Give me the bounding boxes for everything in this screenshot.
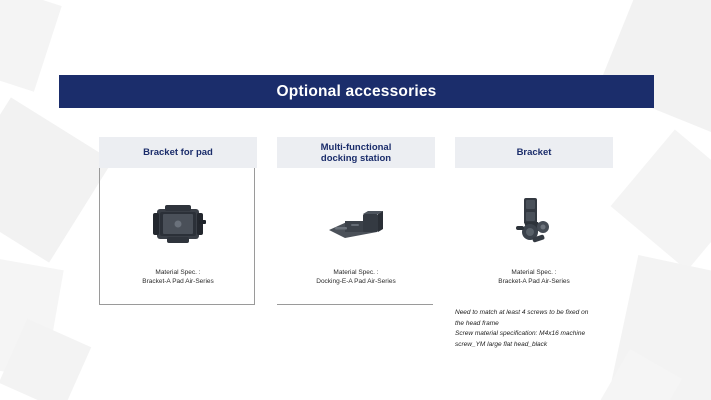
card-header: Bracket xyxy=(455,137,613,168)
note-line-4: screw_YM large flat head_black xyxy=(455,340,625,351)
card-divider-rule xyxy=(277,304,433,305)
accessory-card-docking-station: Multi-functional docking station xyxy=(277,137,435,305)
card-body: Material Spec. : Bracket-A Pad Air-Serie… xyxy=(99,168,257,305)
decorative-shape xyxy=(600,349,682,400)
card-caption: Material Spec. : Docking-E-A Pad Air-Ser… xyxy=(277,268,435,286)
card-body: Material Spec. : Docking-E-A Pad Air-Ser… xyxy=(277,168,435,305)
card-title: Multi-functional docking station xyxy=(317,142,396,164)
decorative-shape xyxy=(0,319,91,400)
card-caption: Material Spec. : Bracket-A Pad Air-Serie… xyxy=(99,268,257,286)
card-header: Multi-functional docking station xyxy=(277,137,435,168)
note-line-2: the head frame xyxy=(455,319,625,330)
decorative-shape xyxy=(611,130,711,271)
decorative-shape xyxy=(0,0,62,92)
accessory-card-bracket-for-pad: Bracket for pad xyxy=(99,137,257,305)
decorative-shape xyxy=(598,0,711,143)
caption-line-1: Material Spec. : xyxy=(277,268,435,277)
caption-line-2: Bracket-A Pad Air-Series xyxy=(455,277,613,286)
caption-line-1: Material Spec. : xyxy=(99,268,257,277)
docking-station-icon xyxy=(277,196,435,252)
caption-line-1: Material Spec. : xyxy=(455,268,613,277)
bracket-arm-icon xyxy=(455,196,613,252)
note-line-1: Need to match at least 4 screws to be fi… xyxy=(455,308,625,319)
card-title-line-1: Multi-functional xyxy=(321,142,392,153)
card-title-line-2: docking station xyxy=(321,153,391,164)
accessory-card-row: Bracket for pad xyxy=(99,137,619,312)
screw-requirement-note: Need to match at least 4 screws to be fi… xyxy=(455,308,625,350)
caption-line-2: Docking-E-A Pad Air-Series xyxy=(277,277,435,286)
tablet-bracket-icon xyxy=(99,196,257,252)
card-header: Bracket for pad xyxy=(99,137,257,168)
slide-title-bar: Optional accessories xyxy=(59,75,654,108)
note-line-3: Screw material specification: M4x16 mach… xyxy=(455,329,625,340)
card-title: Bracket xyxy=(513,147,556,158)
card-caption: Material Spec. : Bracket-A Pad Air-Serie… xyxy=(455,268,613,286)
accessory-card-bracket: Bracket xyxy=(455,137,613,305)
decorative-shape xyxy=(0,97,113,262)
card-title: Bracket for pad xyxy=(139,147,217,158)
slide: Optional accessories Bracket for pad xyxy=(0,0,711,400)
decorative-shape xyxy=(0,251,64,378)
card-body: Material Spec. : Bracket-A Pad Air-Serie… xyxy=(455,168,613,305)
page-title: Optional accessories xyxy=(277,83,437,101)
caption-line-2: Bracket-A Pad Air-Series xyxy=(99,277,257,286)
